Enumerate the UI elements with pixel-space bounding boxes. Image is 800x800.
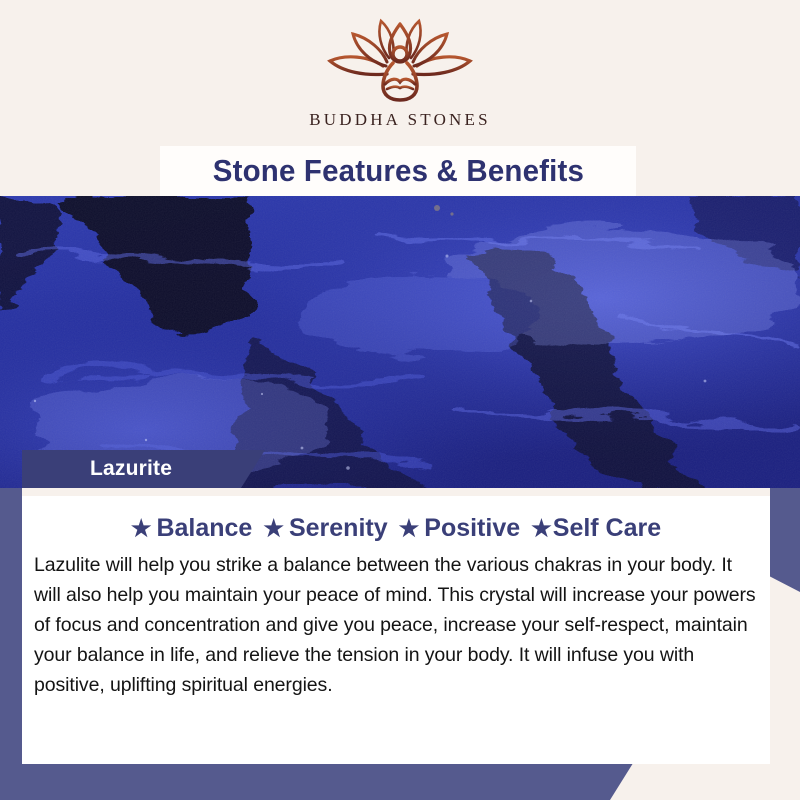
keyword-label: Self Care bbox=[553, 514, 661, 543]
star-icon: ★ bbox=[531, 517, 552, 540]
lotus-meditation-icon bbox=[325, 16, 475, 108]
infographic-card: BUDDHA STONES Stone Features & Benefits bbox=[0, 0, 800, 800]
brand-name: BUDDHA STONES bbox=[0, 110, 800, 130]
page-title-banner: Stone Features & Benefits bbox=[160, 146, 636, 196]
brand-logo: BUDDHA STONES bbox=[0, 16, 800, 130]
star-icon: ★ bbox=[399, 517, 420, 540]
content-card: ★ Balance ★ Serenity ★ Positive ★ Self C… bbox=[22, 488, 770, 764]
stone-photo bbox=[0, 196, 800, 488]
keyword-item: ★ Self Care bbox=[531, 514, 661, 543]
decor-left-strip bbox=[0, 470, 22, 782]
stone-name: Lazurite bbox=[90, 457, 172, 481]
star-icon: ★ bbox=[131, 517, 152, 540]
star-icon: ★ bbox=[263, 517, 284, 540]
keyword-label: Positive bbox=[424, 514, 520, 543]
keyword-item: ★ Positive bbox=[399, 514, 521, 543]
keyword-item: ★ Balance bbox=[131, 514, 253, 543]
stone-name-tag: Lazurite bbox=[22, 450, 265, 488]
page-title: Stone Features & Benefits bbox=[212, 153, 583, 189]
card-top-strip bbox=[22, 488, 770, 496]
stone-photo-image bbox=[0, 196, 800, 488]
stone-description: Lazulite will help you strike a balance … bbox=[34, 550, 760, 700]
keyword-label: Balance bbox=[156, 514, 252, 543]
keyword-label: Serenity bbox=[289, 514, 388, 543]
keyword-item: ★ Serenity bbox=[263, 514, 387, 543]
keyword-list: ★ Balance ★ Serenity ★ Positive ★ Self C… bbox=[22, 514, 770, 543]
